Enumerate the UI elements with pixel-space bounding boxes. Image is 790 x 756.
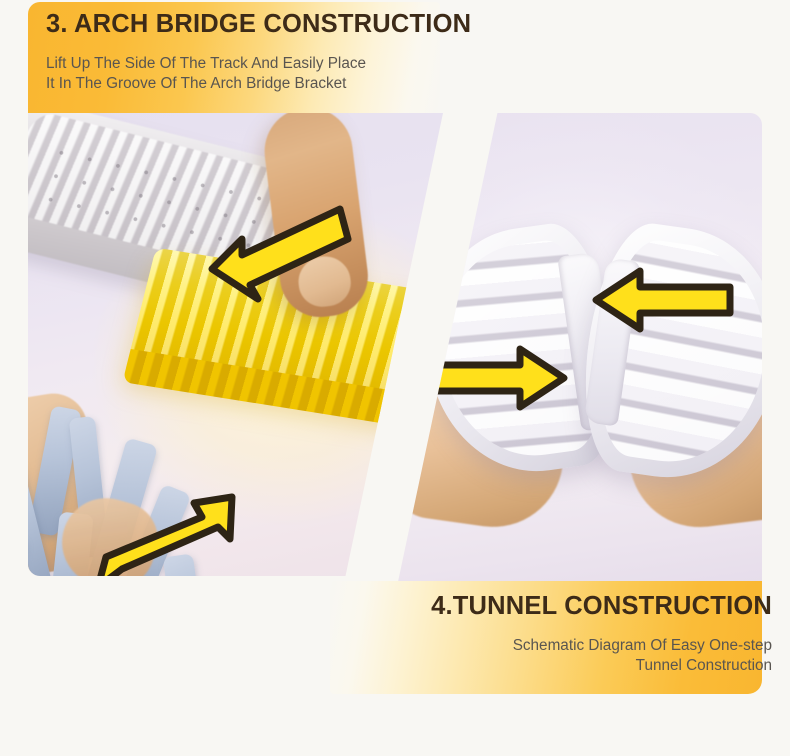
arch-bridge-photo xyxy=(28,113,443,576)
section-4-title: 4.TUNNEL CONSTRUCTION xyxy=(431,592,772,621)
section-4-subtitle: Schematic Diagram Of Easy One-step Tunne… xyxy=(513,636,772,676)
arrow-tunnel-right xyxy=(584,265,736,340)
tunnel-photo xyxy=(392,113,762,584)
instruction-graphic: 3. ARCH BRIDGE CONSTRUCTION Lift Up The … xyxy=(0,0,790,756)
section-3-subtitle: Lift Up The Side Of The Track And Easily… xyxy=(46,54,366,94)
arrow-tunnel-left xyxy=(424,343,570,418)
section-3-title: 3. ARCH BRIDGE CONSTRUCTION xyxy=(46,10,471,39)
arrow-bracket xyxy=(90,483,250,576)
arrow-track-groove xyxy=(194,195,354,310)
tunnel-half-right xyxy=(572,217,762,491)
